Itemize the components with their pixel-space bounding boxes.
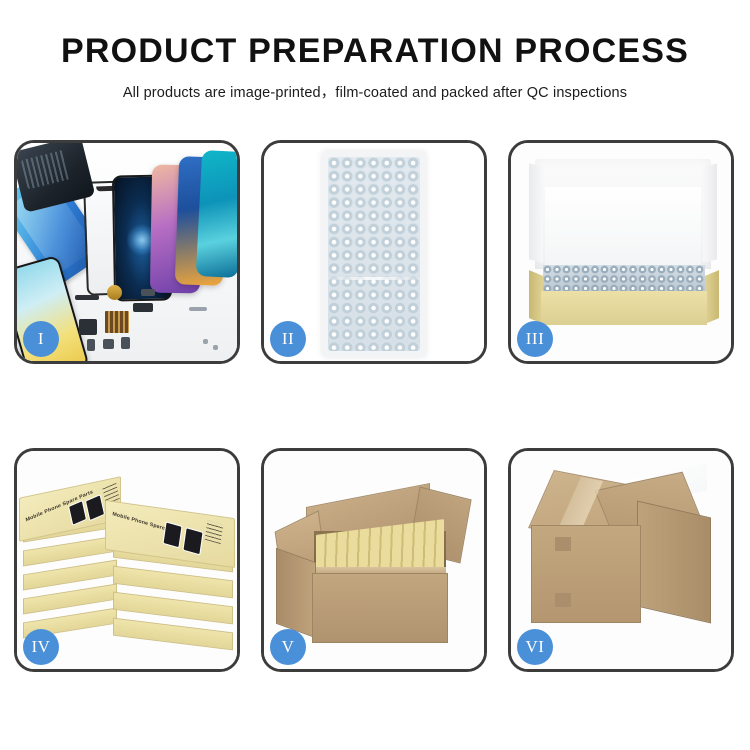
step-panel-6[interactable]: VI xyxy=(508,448,734,672)
carton-left-side xyxy=(276,548,316,639)
part-screw-b xyxy=(213,345,218,350)
page-title: PRODUCT PREPARATION PROCESS xyxy=(0,34,750,70)
step-panel-1[interactable]: I xyxy=(14,140,240,364)
step-panel-3[interactable]: III xyxy=(508,140,734,364)
box-art-screen-l1 xyxy=(68,500,87,526)
step-badge-6: VI xyxy=(517,629,553,665)
bubble-texture xyxy=(328,157,420,351)
bubble-wrapped-contents xyxy=(543,265,705,293)
bubble-wrap-seam xyxy=(326,277,422,280)
inner-box-front-wall xyxy=(541,291,707,325)
bubble-wrapped-product xyxy=(322,151,426,357)
header: PRODUCT PREPARATION PROCESS All products… xyxy=(0,0,750,102)
carton-front-face xyxy=(312,573,448,643)
part-ic-grid xyxy=(105,311,129,333)
part-sim-tray xyxy=(87,339,95,351)
stacked-box-r4 xyxy=(113,618,233,651)
step-badge-2: II xyxy=(270,321,306,357)
step-badge-4: IV xyxy=(23,629,59,665)
part-camera-module xyxy=(103,339,114,349)
steps-grid: I II III xyxy=(14,140,736,672)
carton-seam-tab-upper xyxy=(555,537,571,551)
part-vibrator xyxy=(121,337,130,349)
part-screwdriver xyxy=(189,307,207,311)
carton-seam-tab-lower xyxy=(555,593,571,607)
step-panel-5[interactable]: V xyxy=(261,448,487,672)
box-spec-lines-right xyxy=(205,520,224,544)
part-small-bracket xyxy=(141,289,155,296)
sealed-carton-front-face xyxy=(531,525,641,623)
part-button-flex xyxy=(133,303,153,312)
box-art-screen-r2 xyxy=(182,527,203,555)
part-speaker-coil xyxy=(107,285,122,300)
step-panel-4[interactable]: Mobile Phone Spare Parts Mobile Phone Sp… xyxy=(14,448,240,672)
part-flex-cable xyxy=(79,319,97,335)
product-preparation-infographic: PRODUCT PREPARATION PROCESS All products… xyxy=(0,0,750,750)
part-connector-strip xyxy=(75,295,99,300)
foam-sheet xyxy=(545,187,701,265)
box-art-screen-l2 xyxy=(85,494,105,521)
step-badge-1: I xyxy=(23,321,59,357)
phone-cyan-gradient xyxy=(196,150,237,278)
step-panel-2[interactable]: II xyxy=(261,140,487,364)
part-screw-a xyxy=(203,339,208,344)
step-badge-5: V xyxy=(270,629,306,665)
box-art-screen-r1 xyxy=(162,521,182,548)
step-badge-3: III xyxy=(517,321,553,357)
page-subtitle: All products are image-printed，film-coat… xyxy=(0,81,750,102)
sealed-carton-right-side xyxy=(637,500,711,623)
inner-box-right-wall xyxy=(705,270,719,324)
